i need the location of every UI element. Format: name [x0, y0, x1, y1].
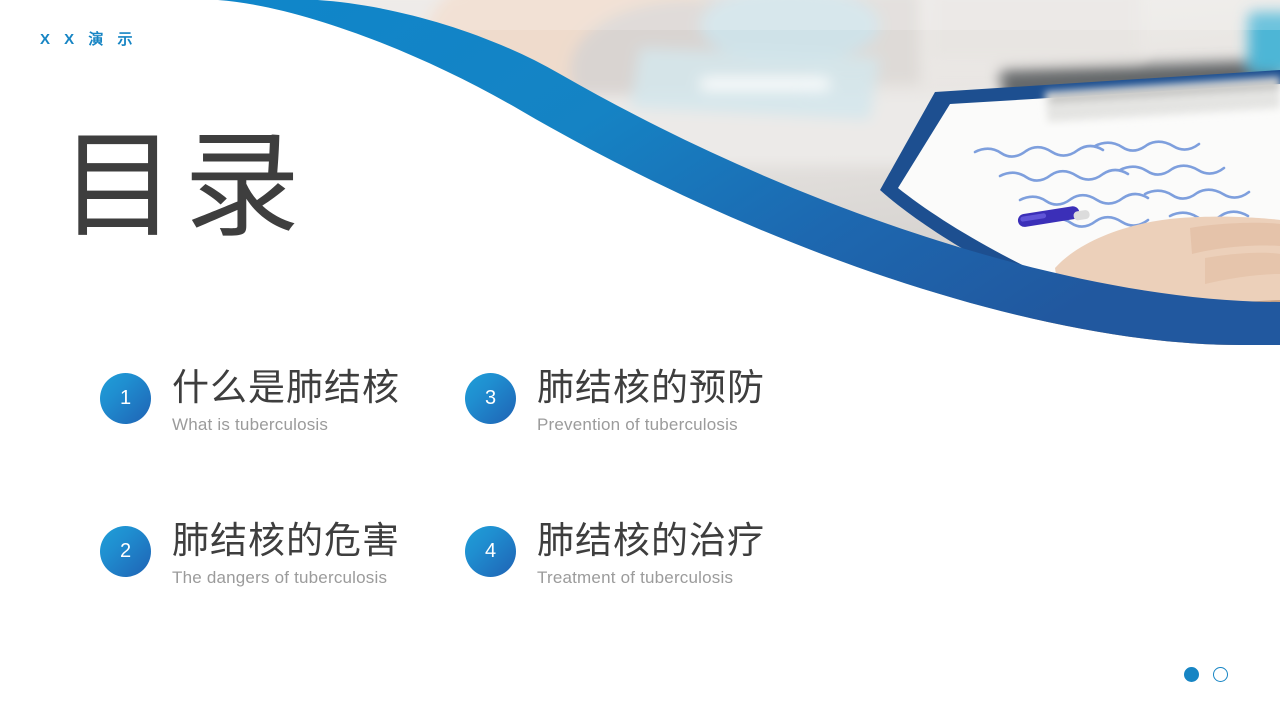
agenda-item-title: 肺结核的治疗 — [537, 521, 765, 561]
agenda-row: 1 什么是肺结核 What is tuberculosis 3 肺结核的预防 P… — [0, 368, 1280, 521]
pagination-dot-active[interactable] — [1184, 667, 1199, 682]
brand-logo: X X 演 示 — [40, 28, 138, 49]
slide: X X 演 示 目录 1 什么是肺结核 What is tuberculosis… — [0, 0, 1280, 720]
agenda-number-badge: 4 — [465, 526, 516, 577]
agenda-list: 1 什么是肺结核 What is tuberculosis 3 肺结核的预防 P… — [0, 368, 1280, 674]
agenda-item-1[interactable]: 1 什么是肺结核 What is tuberculosis — [0, 368, 465, 521]
agenda-item-subtitle: Treatment of tuberculosis — [537, 568, 765, 588]
agenda-item-text: 肺结核的治疗 Treatment of tuberculosis — [537, 521, 765, 588]
pagination-dot-inactive[interactable] — [1213, 667, 1228, 682]
agenda-item-3[interactable]: 3 肺结核的预防 Prevention of tuberculosis — [465, 368, 1025, 521]
pagination — [1184, 667, 1228, 682]
agenda-item-subtitle: The dangers of tuberculosis — [172, 568, 400, 588]
agenda-row: 2 肺结核的危害 The dangers of tuberculosis 4 肺… — [0, 521, 1280, 674]
page-title: 目录 — [60, 128, 308, 244]
agenda-number-badge: 1 — [100, 373, 151, 424]
agenda-item-title: 肺结核的危害 — [172, 521, 400, 561]
agenda-item-2[interactable]: 2 肺结核的危害 The dangers of tuberculosis — [0, 521, 465, 674]
agenda-number-badge: 2 — [100, 526, 151, 577]
agenda-item-text: 什么是肺结核 What is tuberculosis — [172, 368, 400, 435]
agenda-item-text: 肺结核的预防 Prevention of tuberculosis — [537, 368, 765, 435]
agenda-item-text: 肺结核的危害 The dangers of tuberculosis — [172, 521, 400, 588]
agenda-item-subtitle: What is tuberculosis — [172, 415, 400, 435]
agenda-item-4[interactable]: 4 肺结核的治疗 Treatment of tuberculosis — [465, 521, 1025, 674]
agenda-number-badge: 3 — [465, 373, 516, 424]
agenda-item-title: 什么是肺结核 — [172, 368, 400, 408]
agenda-item-subtitle: Prevention of tuberculosis — [537, 415, 765, 435]
agenda-item-title: 肺结核的预防 — [537, 368, 765, 408]
